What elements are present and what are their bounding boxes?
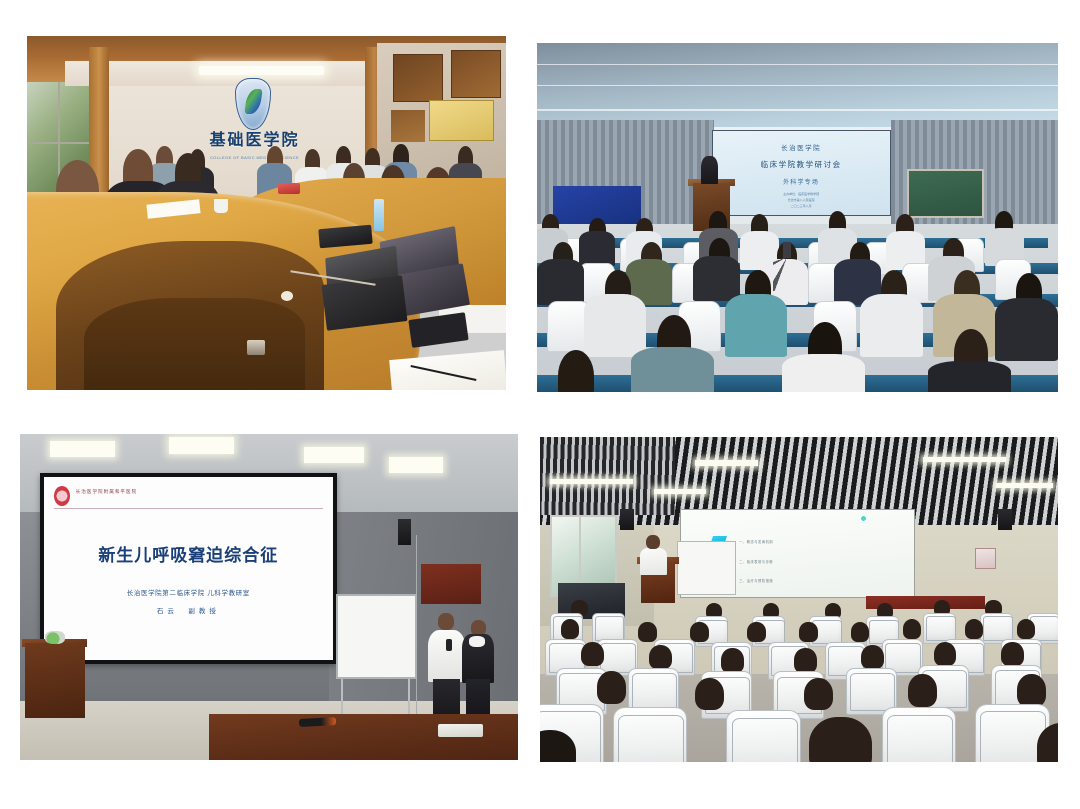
audience-head-foreground bbox=[908, 674, 937, 707]
audience-head bbox=[561, 619, 580, 639]
slide-line-1: 长治医学院 bbox=[713, 142, 890, 152]
wall-plaque bbox=[451, 50, 501, 98]
ceiling-rail bbox=[537, 64, 1058, 66]
audience-head bbox=[794, 648, 817, 672]
photo-lecture-hall-symposium: 长治医学院 临床学院教学研讨会 外科学专场 主办单位：临床医学教学部 长治市第八… bbox=[537, 43, 1058, 392]
audience-body-foreground bbox=[631, 347, 714, 392]
ceiling-strip-light bbox=[996, 483, 1053, 488]
photo-collage-canvas: 基础医学院 COLLEGE OF BASIC MEDICAL SCIENCE bbox=[0, 0, 1080, 809]
window-mullion bbox=[579, 515, 581, 593]
ceiling-light-panel bbox=[169, 437, 234, 453]
slide-decorative-mark bbox=[860, 516, 867, 521]
audience-head bbox=[1001, 642, 1024, 666]
potted-plant bbox=[45, 631, 65, 644]
audience-body bbox=[995, 298, 1058, 361]
audience-chair-foreground bbox=[613, 707, 688, 762]
slide-bullet-text: 二、临床表现与诊断 bbox=[739, 559, 773, 564]
audience-head bbox=[690, 622, 709, 642]
projection-screen: 长治医学院附属和平医院 新生儿呼吸窘迫综合征 长治医学院第二临床学院 儿科学教研… bbox=[40, 473, 337, 664]
foreground-desk bbox=[209, 714, 518, 760]
wall-speaker-right bbox=[998, 509, 1011, 530]
window-mullion-horizontal bbox=[27, 142, 92, 144]
audience-head bbox=[851, 622, 870, 642]
audience-chair-foreground bbox=[726, 710, 801, 762]
slide-bullet-text: 一、概念与发病机制 bbox=[739, 539, 773, 544]
slide-affiliation: 长治医学院第二临床学院 儿科学教研室 bbox=[44, 587, 333, 597]
slide-footer-2: 长治市第八人民医院 bbox=[713, 198, 890, 203]
presenter-head bbox=[438, 613, 454, 630]
audience-body bbox=[693, 256, 740, 301]
ceiling-light-panel bbox=[50, 441, 115, 457]
wooden-cabinet bbox=[25, 643, 85, 718]
photo-pediatrics-lecture-presentation: 长治医学院附属和平医院 新生儿呼吸窘迫综合征 长治医学院第二临床学院 儿科学教研… bbox=[20, 434, 518, 760]
camera-tripod bbox=[771, 242, 802, 291]
audience-body bbox=[579, 231, 615, 266]
slide-footer-1: 主办单位：临床医学教学部 bbox=[713, 192, 890, 197]
wall-sign-sub-text: COLLEGE OF BASIC MEDICAL SCIENCE bbox=[190, 155, 319, 160]
ceiling-strip-light bbox=[923, 457, 1006, 463]
audience-head bbox=[721, 648, 744, 672]
ceiling-light-panel bbox=[389, 457, 444, 473]
slide-presenter: 石云 副教授 bbox=[44, 605, 333, 615]
audience-head bbox=[799, 622, 818, 642]
ceiling-light-panel bbox=[304, 447, 364, 463]
wall-red-panel bbox=[421, 564, 481, 603]
ceiling-strip-light bbox=[654, 489, 706, 494]
audience-body bbox=[860, 294, 923, 357]
wall-safety-sign bbox=[975, 548, 996, 570]
presenter-body bbox=[428, 630, 465, 682]
slide-title: 新生儿呼吸窘迫综合征 bbox=[44, 541, 333, 566]
speaker-head bbox=[646, 535, 659, 550]
ceiling-strip-light bbox=[550, 479, 633, 484]
audience-chair-foreground bbox=[882, 707, 957, 762]
audience-head bbox=[903, 619, 922, 639]
audience-head-foreground bbox=[804, 678, 833, 711]
audience-head bbox=[965, 619, 984, 639]
wall-plaque-gold bbox=[429, 100, 493, 141]
chalkboard bbox=[907, 169, 984, 218]
slide-line-3: 外科学专场 bbox=[713, 177, 890, 186]
paper-cup bbox=[214, 199, 228, 213]
audience-body bbox=[537, 259, 584, 304]
ceiling-rail bbox=[537, 109, 1058, 111]
slide-divider-rule bbox=[54, 508, 323, 509]
audience-body bbox=[584, 294, 647, 357]
audience-body-foreground bbox=[928, 361, 1011, 392]
desk-microphone bbox=[299, 717, 337, 727]
desk-device bbox=[438, 724, 483, 737]
mobile-whiteboard bbox=[336, 594, 417, 680]
audience-head-foreground bbox=[597, 671, 626, 704]
table-microphone bbox=[247, 340, 264, 354]
audience-head bbox=[581, 642, 604, 666]
ceiling-strip-light bbox=[695, 460, 757, 466]
university-logo-icon bbox=[54, 486, 70, 506]
wall-plaque bbox=[393, 54, 443, 102]
wall-plaque bbox=[391, 110, 425, 142]
audience-body-foreground bbox=[782, 354, 865, 392]
wall-sign-main-text: 基础医学院 bbox=[202, 133, 307, 149]
ceiling-rail bbox=[537, 85, 1058, 87]
audience-head-foreground bbox=[695, 678, 724, 711]
slide-line-2: 临床学院教学研讨会 bbox=[713, 159, 890, 170]
water-bottle bbox=[374, 199, 384, 231]
audience-head bbox=[638, 622, 657, 642]
audience-head bbox=[649, 645, 672, 669]
projection-screen: 长治医学院 临床学院教学研讨会 外科学专场 主办单位：临床医学教学部 长治市第八… bbox=[712, 130, 891, 216]
ceiling-light-tube bbox=[199, 66, 324, 74]
mobile-whiteboard bbox=[677, 541, 736, 595]
slide-footer-3: 二〇二三年八月 bbox=[713, 204, 890, 209]
speaker-at-podium bbox=[701, 156, 718, 184]
wall-speaker-left bbox=[620, 509, 633, 530]
handheld-microphone bbox=[446, 639, 452, 651]
speaker-body bbox=[640, 548, 667, 576]
audience-body bbox=[725, 294, 788, 357]
audience-head-foreground bbox=[1017, 674, 1046, 707]
desk-nameplate bbox=[278, 183, 300, 194]
audience-head bbox=[747, 622, 766, 642]
wall-speaker bbox=[398, 519, 410, 545]
audience-head bbox=[934, 642, 957, 666]
audience-head-foreground bbox=[809, 717, 871, 763]
assistant-collar bbox=[469, 636, 485, 647]
photo-auditorium-audience: 一、概念与发病机制 二、临床表现与诊断 三、治疗与预防措施 bbox=[540, 437, 1058, 762]
audience-head bbox=[861, 645, 884, 669]
auditorium-ceiling-left bbox=[540, 437, 675, 515]
slide-logo-text: 长治医学院附属和平医院 bbox=[76, 489, 138, 495]
slide-bullet-text: 三、治疗与预防措施 bbox=[739, 578, 773, 583]
audience-head bbox=[1017, 619, 1036, 639]
meeting-table-inner-shadow bbox=[84, 298, 304, 390]
photo-conference-room-meeting: 基础医学院 COLLEGE OF BASIC MEDICAL SCIENCE bbox=[27, 36, 506, 390]
